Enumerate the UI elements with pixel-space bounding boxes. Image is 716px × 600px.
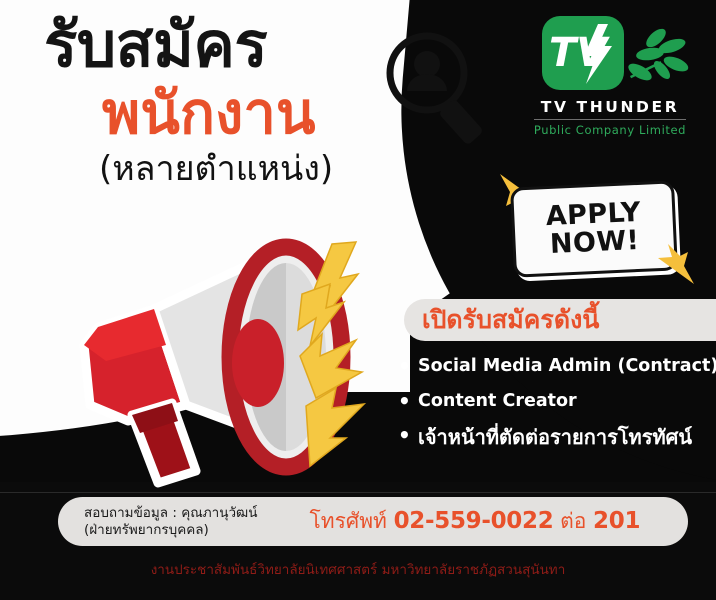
- logo-badge: TV: [542, 16, 624, 90]
- contact-info-line-1: สอบถามข้อมูล : คุณภานุวัฒน์: [84, 505, 257, 522]
- logo-subtitle: Public Company Limited: [520, 123, 700, 137]
- contact-phone[interactable]: โทรศัพท์ 02-559-0022 ต่อ 201: [309, 505, 640, 538]
- list-item: เจ้าหน้าที่ตัดต่อรายการโทรทัศน์: [396, 427, 716, 447]
- company-logo: TV TV THUNDER: [520, 16, 700, 137]
- headline-block: รับสมัคร พนักงาน (หลายตำแหน่ง): [44, 14, 404, 186]
- recruitment-poster: รับสมัคร พนักงาน (หลายตำแหน่ง) TV: [0, 0, 716, 600]
- phone-number: 02-559-0022: [394, 508, 554, 534]
- headline-line-2: พนักงาน: [102, 84, 404, 142]
- spark-arrow-icon: [646, 240, 698, 288]
- ext-label: ต่อ: [560, 509, 586, 533]
- jobs-list: Social Media Admin (Contract) Content Cr…: [396, 358, 716, 464]
- phone-label: โทรศัพท์: [309, 509, 386, 533]
- list-item: Social Media Admin (Contract): [396, 358, 716, 376]
- contact-pill: สอบถามข้อมูล : คุณภานุวัฒน์ (ฝ่ายทรัพยาก…: [58, 497, 688, 546]
- logo-badge-row: TV: [520, 16, 700, 94]
- ext-number: 201: [593, 508, 640, 534]
- contact-info-line-2: (ฝ่ายทรัพยากรบุคคล): [84, 522, 257, 539]
- logo-name: TV THUNDER: [520, 98, 700, 116]
- headline-line-3: (หลายตำแหน่ง): [99, 152, 404, 186]
- contact-info: สอบถามข้อมูล : คุณภานุวัฒน์ (ฝ่ายทรัพยาก…: [84, 505, 257, 539]
- list-item: Content Creator: [396, 393, 716, 411]
- footer-text: งานประชาสัมพันธ์วิทยาลัยนิเทศศาสตร์ มหาว…: [0, 558, 716, 580]
- apply-now-line-2: NOW!: [549, 227, 639, 259]
- headline-line-1: รับสมัคร: [44, 14, 404, 76]
- person-search-icon: [380, 28, 492, 146]
- logo-divider: [534, 119, 686, 120]
- apply-now-badge[interactable]: APPLY NOW!: [496, 178, 696, 282]
- leaf-branch-icon: [620, 26, 692, 86]
- jobs-header-label: เปิดรับสมัครดังนี้: [422, 300, 599, 340]
- jobs-header-bar: เปิดรับสมัครดังนี้: [404, 299, 716, 341]
